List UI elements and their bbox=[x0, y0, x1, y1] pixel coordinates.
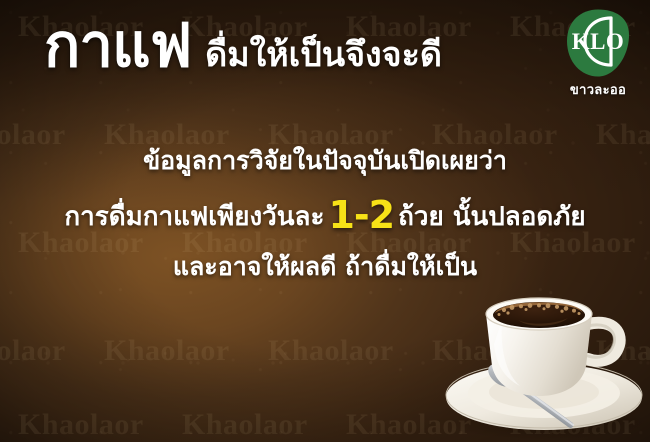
copy-line-2-suffix: ถ้วย นั้นปลอดภัย bbox=[398, 202, 585, 232]
page-subtitle: ดื่มให้เป็นจึงจะดี bbox=[205, 38, 442, 72]
copy-line-2: การดื่มกาแฟเพียงวันละ1-2ถ้วย นั้นปลอดภัย bbox=[0, 195, 650, 235]
poster-copy: ข้อมูลการวิจัยในปัจจุบันเปิดเผยว่า การดื… bbox=[0, 148, 650, 280]
page-title: กาแฟ bbox=[44, 16, 191, 76]
poster-header: กาแฟ ดื่มให้เป็นจึงจะดี KLO ขาวละออ bbox=[0, 0, 650, 110]
brand-logo-caption: ขาวละออ bbox=[560, 79, 636, 100]
title-row: กาแฟ ดื่มให้เป็นจึงจะดี bbox=[44, 16, 442, 76]
coffee-infographic-poster: KhaolaorKhaolaorKhaolaorKhaolaorKhaolaor… bbox=[0, 0, 650, 442]
klo-shield-icon: KLO bbox=[565, 8, 631, 78]
copy-line-3: และอาจให้ผลดี ถ้าดื่มให้เป็น bbox=[0, 254, 650, 281]
copy-line-2-prefix: การดื่มกาแฟเพียงวันละ bbox=[64, 202, 324, 232]
copy-line-1: ข้อมูลการวิจัยในปัจจุบันเปิดเผยว่า bbox=[0, 148, 650, 175]
coffee-cup-illustration bbox=[438, 282, 650, 442]
brand-logo[interactable]: KLO ขาวละออ bbox=[560, 8, 636, 104]
svg-text:KLO: KLO bbox=[572, 29, 625, 54]
daily-cups-highlight: 1-2 bbox=[324, 193, 398, 237]
